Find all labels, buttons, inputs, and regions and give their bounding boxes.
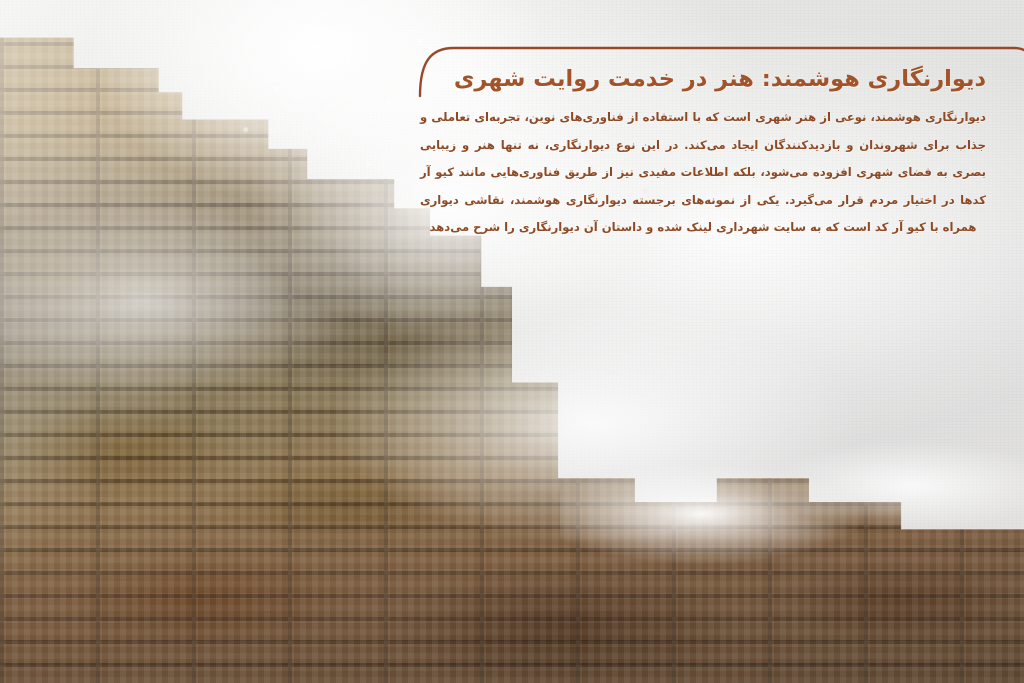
article-body: دیوارنگاری هوشمند، نوعی از هنر شهری است …: [420, 104, 986, 242]
mural-pixelation: [0, 0, 1024, 683]
poster-canvas: دیوارنگاری هوشمند: هنر در خدمت روایت شهر…: [0, 0, 1024, 683]
article-headline: دیوارنگاری هوشمند: هنر در خدمت روایت شهر…: [430, 65, 986, 93]
article-paragraph: دیوارنگاری هوشمند، نوعی از هنر شهری است …: [420, 104, 986, 242]
brick-wall-artwork: [0, 0, 1024, 683]
